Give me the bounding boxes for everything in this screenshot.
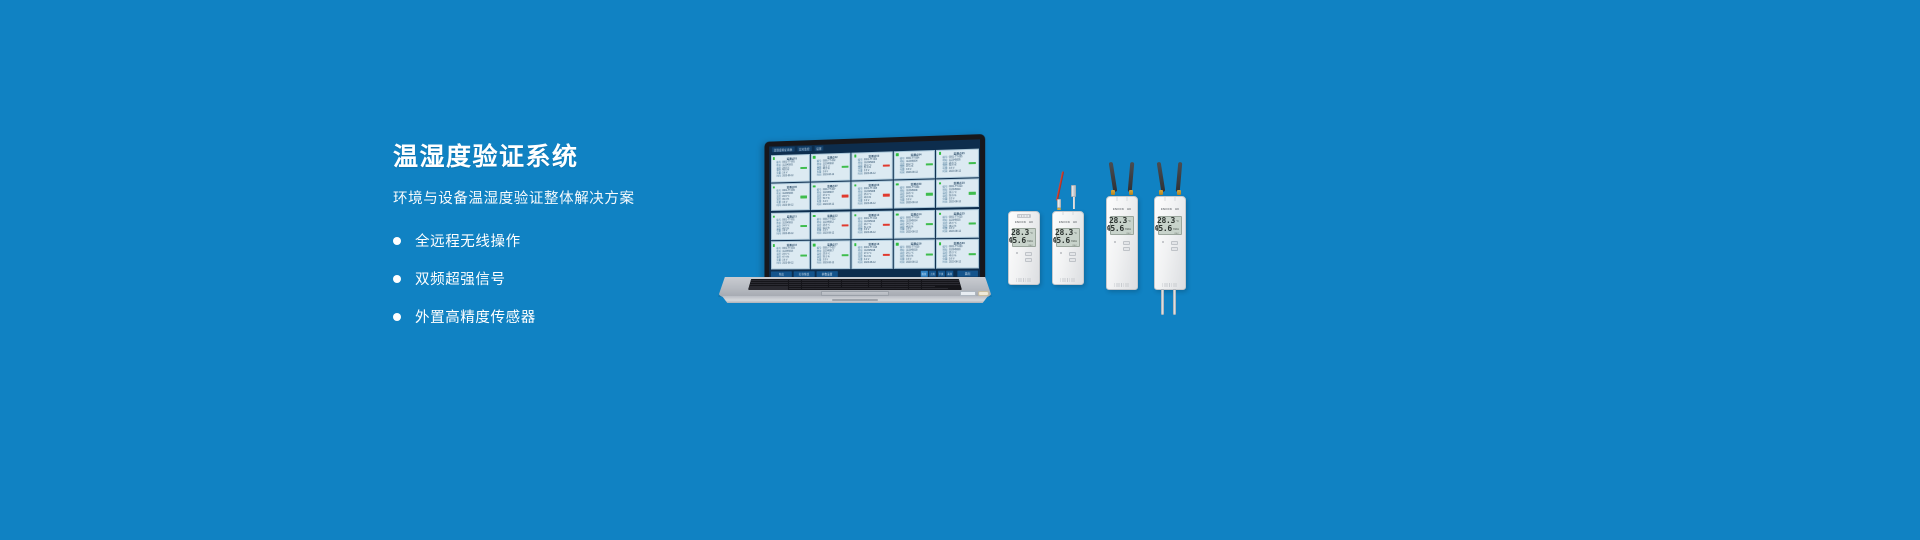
sensor-field-label: 时间: — [854, 173, 863, 176]
sensor-field-value: 2023-08-12 — [823, 174, 848, 178]
status-led-icon — [939, 152, 941, 155]
page-last-button[interactable]: 末页 — [946, 271, 953, 277]
sensor-card-fields: 编号:0001-TT-003地址:112345003温度:26.4 ℃湿度:51… — [854, 158, 890, 176]
probe-connector — [1057, 199, 1061, 208]
sensor-field-value: 2023-08-12 — [782, 233, 807, 236]
device-brand-right: H8 — [1029, 221, 1033, 224]
sensor-field-value: 2023-08-12 — [864, 262, 890, 265]
external-probe-right — [1173, 289, 1176, 315]
device-indicator-led — [1162, 241, 1164, 243]
sensor-card[interactable]: 监测点05编号:0001-TT-005地址:112345005温度:25.6 ℃… — [936, 148, 978, 178]
sensor-card-row: 时间:2023-08-12 — [854, 262, 890, 265]
lcd-status-label: REC — [1015, 245, 1033, 247]
device-button-panel — [1107, 241, 1137, 251]
laptop-open-notch — [832, 299, 878, 301]
sensor-field-value: 2023-08-12 — [864, 202, 890, 205]
device-base-vent-icon — [1016, 278, 1032, 282]
sensor-card-fields: 编号:0001-TT-001地址:112345001温度:24.8 ℃湿度:48… — [773, 161, 807, 179]
laptop-lid: 温湿度验证系统 实时监控 设置 监测点01编号:0001-TT-001地址:11… — [764, 134, 985, 290]
status-led-icon — [939, 182, 941, 184]
sensor-field-value: 2023-08-12 — [906, 232, 932, 235]
sensor-card[interactable]: 监测点18编号:0001-TT-018地址:112345018温度:27.0 ℃… — [852, 240, 893, 269]
sensor-field-label: 时间: — [813, 262, 822, 265]
sensor-card-title: 监测点06 — [777, 185, 808, 190]
sensor-card-row: 时间:2023-08-12 — [896, 261, 932, 264]
sensor-card-fields: 编号:0001-TT-009地址:112345009温度:24.5 ℃湿度:47… — [896, 187, 932, 205]
sensor-card-row: 时间:2023-08-12 — [896, 202, 932, 206]
status-led-icon — [813, 215, 815, 217]
device-lcd-display: 28.3 ℃ 45.6 %RH REC — [1056, 228, 1080, 247]
sensor-card-row: 时间:2023-08-12 — [813, 262, 848, 265]
list-item: 双频超强信号 — [393, 268, 723, 289]
toolbar-item-title[interactable]: 温湿度验证系统 — [772, 147, 794, 153]
sensor-card-row: 时间:2023-08-12 — [939, 170, 976, 174]
antenna-left-base — [1159, 190, 1164, 195]
device-housing: ENCON H8 28.3 ℃ 45.6 %RH REC — [1052, 211, 1084, 285]
toolbar-item-settings[interactable]: 设置 — [814, 146, 823, 151]
status-led-icon — [854, 184, 856, 186]
list-item: 全远程无线操作 — [393, 230, 723, 251]
sensor-card-row: 时间:2023-08-12 — [773, 175, 807, 179]
sensor-card[interactable]: 监测点14编号:0001-TT-014地址:112345014温度:24.3 ℃… — [894, 209, 935, 238]
probe-gold-ring — [1057, 208, 1061, 210]
sensor-card-title: 监测点10 — [943, 181, 976, 186]
sensor-card-title: 监测点19 — [900, 242, 933, 246]
device-button-down[interactable] — [1025, 258, 1032, 262]
sensor-field-label: 时间: — [773, 176, 781, 179]
sensor-card-fields: 编号:0001-TT-014地址:112345014温度:24.3 ℃湿度:46… — [896, 217, 932, 235]
device-housing: ENCON H8 28.3 ℃ 45.6 %RH REC — [1154, 196, 1186, 290]
sensor-field-label: 时间: — [854, 203, 863, 206]
sensor-card-header: 监测点18 — [854, 242, 890, 246]
device-brand-left: ENCON — [1161, 208, 1172, 211]
sensor-card-fields: 编号:0001-TT-015地址:112345015温度:25.4 ℃湿度:48… — [939, 216, 976, 234]
sensor-card-fields: 编号:0001-TT-013地址:112345013温度:26.7 ℃湿度:51… — [854, 217, 890, 235]
sensor-field-label: 时间: — [773, 234, 781, 237]
sensor-field-label: 时间: — [813, 175, 822, 178]
keyboard-row — [749, 288, 961, 289]
sensor-card[interactable]: 监测点10编号:0001-TT-010地址:112345010温度:26.1 ℃… — [936, 178, 978, 208]
laptop-front-edge — [722, 296, 988, 303]
sensor-field-value: 2023-08-12 — [782, 204, 807, 207]
sensor-card-fields: 编号:0001-TT-008地址:112345008温度:25.0 ℃湿度:48… — [854, 188, 890, 206]
laptop-trackpad[interactable] — [821, 291, 889, 297]
sensor-field-value: 2023-08-12 — [949, 201, 976, 205]
sensor-card-header: 监测点19 — [896, 242, 932, 246]
sensor-card-grid: 监测点01编号:0001-TT-001地址:112345001温度:24.8 ℃… — [769, 146, 980, 270]
device-indicator-led — [1016, 252, 1018, 254]
sensor-card-title: 监测点18 — [858, 242, 890, 246]
device-wireless-validator-b: ENCON H8 28.3 ℃ 45.6 %RH REC — [1154, 196, 1186, 290]
device-button-panel — [1155, 241, 1185, 251]
device-housing: ENCON H8 28.3 ℃ 45.6 %RH REC — [1106, 196, 1138, 290]
sensor-field-value: 2023-08-12 — [949, 170, 976, 174]
sensor-card-fields: 编号:0001-TT-020地址:112345020温度:25.3 ℃湿度:49… — [939, 246, 976, 264]
lcd-humidity-value: 45.6 — [1008, 237, 1026, 245]
sensor-card-title: 监测点11 — [777, 214, 808, 218]
sensor-field-value: 2023-08-12 — [906, 172, 932, 176]
status-led-icon — [854, 155, 856, 157]
sensor-field-value: 2023-08-12 — [782, 175, 807, 179]
sensor-card[interactable]: 监测点20编号:0001-TT-020地址:112345020温度:25.3 ℃… — [936, 239, 978, 268]
status-led-icon — [939, 212, 941, 214]
sensor-field-value: 2023-08-12 — [949, 231, 976, 234]
device-brand-right: H8 — [1073, 221, 1077, 224]
sensor-field-label: 时间: — [854, 262, 863, 265]
sensor-field-label: 时间: — [813, 204, 822, 207]
device-lcd-display: 28.3 ℃ 45.6 %RH REC — [1012, 228, 1036, 247]
sensor-card[interactable]: 监测点08编号:0001-TT-008地址:112345008温度:25.0 ℃… — [852, 181, 893, 210]
sensor-card-row: 时间:2023-08-12 — [813, 233, 848, 236]
sensor-card-fields: 编号:0001-TT-011地址:112345011温度:24.9 ℃湿度:49… — [773, 219, 807, 237]
device-brand-left: ENCON — [1015, 221, 1026, 224]
sensor-card[interactable]: 监测点07编号:0001-TT-007地址:112345007温度:27.2 ℃… — [811, 182, 851, 211]
sensor-field-value: 2023-08-12 — [823, 233, 848, 236]
sensor-field-label: 时间: — [939, 171, 948, 174]
status-led-icon — [773, 186, 775, 188]
device-indicator-led — [1060, 252, 1062, 254]
device-brand-right: H8 — [1127, 208, 1131, 211]
device-button-up[interactable] — [1171, 241, 1178, 245]
sensor-card-fields: 编号:0001-TT-007地址:112345007温度:27.2 ℃湿度:53… — [813, 189, 848, 207]
laptop-deck — [718, 277, 992, 297]
sensor-card-row: 时间:2023-08-12 — [813, 203, 848, 207]
lcd-humidity-value: 45.6 — [1052, 237, 1070, 245]
sensor-field-value: 2023-08-12 — [864, 232, 890, 235]
status-led-icon — [813, 185, 815, 187]
laptop-sticker-secondary — [978, 291, 989, 296]
sensor-card-header: 监测点12 — [813, 213, 848, 218]
sensor-field-label: 时间: — [939, 261, 948, 264]
sensor-card-row: 时间:2023-08-12 — [939, 201, 976, 205]
sensor-field-label: 时间: — [896, 202, 905, 205]
page-subtitle: 环境与设备温湿度验证整体解决方案 — [393, 187, 723, 208]
page-next-button[interactable]: 下页 — [937, 271, 944, 277]
sensor-card-title: 监测点13 — [858, 212, 890, 217]
sensor-card-row: 时间:2023-08-12 — [773, 233, 807, 236]
sensor-field-label: 时间: — [854, 232, 863, 235]
lcd-status-label: REC — [1113, 233, 1131, 235]
sensor-card[interactable]: 监测点12编号:0001-TT-012地址:112345012温度:25.8 ℃… — [811, 211, 851, 240]
antenna-right — [1128, 162, 1134, 192]
device-external-probe-logger: ENCON H8 28.3 ℃ 45.6 %RH REC — [1052, 211, 1084, 285]
sensor-field-value: 2023-08-12 — [949, 261, 976, 264]
sensor-card[interactable]: 监测点11编号:0001-TT-011地址:112345011温度:24.9 ℃… — [771, 212, 810, 240]
laptop-product-image: 温湿度验证系统 实时监控 设置 监测点01编号:0001-TT-001地址:11… — [714, 138, 996, 303]
device-base-vent-icon — [1162, 283, 1178, 287]
sensor-card-fields: 编号:0001-TT-002地址:112345002温度:25.1 ℃湿度:49… — [813, 159, 848, 177]
sensor-field-value: 2023-08-12 — [823, 262, 848, 265]
antenna-right — [1176, 162, 1182, 192]
sensor-card-fields: 编号:0001-TT-017地址:112345017温度:25.9 ℃湿度:50… — [813, 248, 848, 266]
sensor-card-header: 监测点09 — [896, 182, 932, 187]
sensor-card-header: 监测点16 — [773, 243, 807, 247]
sensor-field-value: 2023-08-12 — [864, 173, 890, 177]
device-button-up[interactable] — [1123, 241, 1130, 245]
bullet-dot-icon — [393, 237, 401, 245]
sensor-field-value: 2023-08-12 — [823, 203, 848, 206]
status-led-icon — [939, 242, 941, 244]
probe-sensor-tip — [1071, 185, 1076, 197]
page-first-button[interactable]: 首页 — [920, 271, 927, 277]
status-led-icon — [854, 214, 856, 216]
device-brand-left: ENCON — [1113, 208, 1124, 211]
sensor-card-fields: 编号:0001-TT-018地址:112345018温度:27.0 ℃湿度:54… — [854, 247, 890, 265]
sensor-card-title: 监测点09 — [900, 182, 933, 187]
device-brand-left: ENCON — [1059, 221, 1070, 224]
probe-stem — [1073, 197, 1075, 209]
device-hanging-loop-icon — [1165, 196, 1176, 201]
device-button-down[interactable] — [1171, 247, 1178, 251]
sensor-card[interactable]: 监测点19编号:0001-TT-019地址:112345019温度:24.1 ℃… — [894, 239, 935, 268]
sensor-devices-group: ENCON H8 28.3 ℃ 45.6 %RH REC — [1002, 178, 1222, 318]
sensor-card-row: 时间:2023-08-12 — [896, 172, 932, 176]
device-brand-right: H8 — [1175, 208, 1179, 211]
sensor-card[interactable]: 监测点06编号:0001-TT-006地址:112345006温度:23.9 ℃… — [771, 183, 810, 212]
status-led-icon — [896, 243, 898, 245]
sensor-card-row: 时间:2023-08-12 — [939, 261, 976, 264]
feature-label: 全远程无线操作 — [415, 230, 521, 251]
sensor-field-label: 时间: — [896, 262, 905, 265]
status-led-icon — [773, 215, 775, 217]
sensor-card[interactable]: 监测点17编号:0001-TT-017地址:112345017温度:25.9 ℃… — [811, 240, 851, 268]
device-base-vent-icon — [1060, 278, 1076, 282]
sensor-card-row: 时间:2023-08-12 — [813, 174, 848, 178]
sensor-card-header: 监测点13 — [854, 212, 890, 217]
device-wireless-validator-a: ENCON H8 28.3 ℃ 45.6 %RH REC — [1106, 196, 1138, 290]
device-button-panel — [1009, 252, 1039, 262]
sensor-card-title: 监测点15 — [943, 211, 976, 216]
lcd-humidity-value: 45.6 — [1154, 225, 1172, 233]
bullet-dot-icon — [393, 275, 401, 283]
sensor-card-row: 时间:2023-08-12 — [773, 262, 807, 265]
antenna-left-base — [1111, 190, 1116, 195]
sensor-card-row: 时间:2023-08-12 — [939, 231, 976, 234]
page-prev-button[interactable]: 上页 — [929, 271, 936, 277]
status-led-icon — [896, 183, 898, 185]
sensor-card[interactable]: 监测点04编号:0001-TT-004地址:112345004温度:24.2 ℃… — [894, 149, 935, 179]
device-housing: ENCON H8 28.3 ℃ 45.6 %RH REC — [1008, 211, 1040, 285]
device-hanging-loop-icon — [1117, 196, 1128, 201]
status-led-icon — [854, 243, 856, 245]
toolbar-item-monitor[interactable]: 实时监控 — [797, 146, 811, 151]
sensor-card-fields: 编号:0001-TT-004地址:112345004温度:24.2 ℃湿度:47… — [896, 157, 932, 176]
sensor-field-label: 时间: — [896, 232, 905, 235]
device-base-vent-icon — [1114, 283, 1130, 287]
exit-button[interactable]: 退出 — [957, 271, 978, 277]
status-led-icon — [813, 244, 815, 246]
sensor-field-label: 时间: — [896, 172, 905, 175]
sensor-card-row: 时间:2023-08-12 — [854, 202, 890, 206]
antenna-left — [1109, 162, 1117, 192]
sensor-field-label: 时间: — [939, 231, 948, 234]
sensor-card-row: 时间:2023-08-12 — [896, 232, 932, 235]
status-led-icon — [896, 154, 898, 156]
sensor-card-header: 监测点11 — [773, 214, 807, 219]
sensor-card-fields: 编号:0001-TT-019地址:112345019温度:24.1 ℃湿度:45… — [896, 247, 932, 265]
sensor-card[interactable]: 监测点02编号:0001-TT-002地址:112345002温度:25.1 ℃… — [811, 152, 851, 181]
sensor-vent-icon — [1017, 214, 1031, 218]
sensor-card-row: 时间:2023-08-12 — [854, 173, 890, 177]
sensor-card-fields: 编号:0001-TT-010地址:112345010温度:26.1 ℃湿度:50… — [939, 186, 976, 205]
feature-label: 双频超强信号 — [415, 268, 506, 289]
device-lcd-display: 28.3 ℃ 45.6 %RH REC — [1158, 216, 1182, 235]
sensor-field-value: 2023-08-12 — [782, 262, 807, 265]
device-button-down[interactable] — [1123, 247, 1130, 251]
feature-label: 外置高精度传感器 — [415, 306, 536, 327]
banner-copy: 温湿度验证系统 环境与设备温湿度验证整体解决方案 全远程无线操作 双频超强信号 … — [393, 142, 723, 344]
status-led-icon — [813, 156, 815, 158]
sensor-card-fields: 编号:0001-TT-012地址:112345012温度:25.8 ℃湿度:52… — [813, 218, 848, 236]
page-title: 温湿度验证系统 — [393, 142, 723, 172]
lcd-humidity-value: 45.6 — [1106, 225, 1124, 233]
feature-list: 全远程无线操作 双频超强信号 外置高精度传感器 — [393, 230, 723, 327]
sensor-field-label: 时间: — [813, 233, 822, 236]
device-lcd-display: 28.3 ℃ 45.6 %RH REC — [1110, 216, 1134, 235]
sensor-card-row: 时间:2023-08-12 — [773, 204, 807, 208]
sensor-card-title: 监测点08 — [858, 183, 890, 188]
sensor-card-title: 监测点16 — [777, 243, 808, 247]
device-indicator-led — [1114, 241, 1116, 243]
sensor-card[interactable]: 监测点13编号:0001-TT-013地址:112345013温度:26.7 ℃… — [852, 210, 893, 239]
sensor-card[interactable]: 监测点09编号:0001-TT-009地址:112345009温度:24.5 ℃… — [894, 179, 935, 209]
device-basic-logger: ENCON H8 28.3 ℃ 45.6 %RH REC — [1008, 211, 1040, 285]
sensor-card-header: 监测点20 — [939, 241, 976, 245]
lcd-status-label: REC — [1059, 245, 1077, 247]
sensor-card-title: 监测点17 — [817, 243, 848, 247]
product-banner: 温湿度验证系统 环境与设备温湿度验证整体解决方案 全远程无线操作 双频超强信号 … — [0, 0, 1920, 540]
sensor-card-title: 监测点14 — [900, 212, 933, 217]
sensor-card[interactable]: 监测点15编号:0001-TT-015地址:112345015温度:25.4 ℃… — [936, 209, 978, 239]
device-button-up[interactable] — [1069, 252, 1076, 256]
sensor-card-title: 监测点07 — [817, 184, 848, 189]
sensor-card[interactable]: 监测点01编号:0001-TT-001地址:112345001温度:24.8 ℃… — [771, 154, 810, 183]
sensor-card-fields: 编号:0001-TT-006地址:112345006温度:23.9 ℃湿度:46… — [773, 190, 807, 208]
sensor-card-row: 时间:2023-08-12 — [854, 232, 890, 235]
device-hanging-loop-icon — [1063, 211, 1074, 215]
bullet-dot-icon — [393, 313, 401, 321]
laptop-screen: 温湿度验证系统 实时监控 设置 监测点01编号:0001-TT-001地址:11… — [769, 139, 980, 278]
sensor-field-value: 2023-08-12 — [906, 202, 932, 205]
sensor-card-title: 监测点12 — [817, 213, 848, 218]
sensor-card-header: 监测点14 — [896, 212, 932, 217]
status-led-icon — [896, 213, 898, 215]
laptop-base — [714, 277, 996, 303]
device-button-panel — [1053, 252, 1083, 262]
antenna-right-base — [1129, 190, 1134, 195]
sensor-card[interactable]: 监测点16编号:0001-TT-016地址:112345016温度:24.6 ℃… — [771, 241, 810, 269]
device-button-up[interactable] — [1025, 252, 1032, 256]
sensor-field-label: 时间: — [773, 205, 781, 208]
device-button-down[interactable] — [1069, 258, 1076, 262]
status-led-icon — [773, 158, 775, 160]
probe-cable — [1056, 171, 1064, 201]
sensor-field-label: 时间: — [939, 201, 948, 204]
antenna-left — [1157, 162, 1165, 192]
sensor-card-fields: 编号:0001-TT-005地址:112345005温度:25.6 ℃湿度:50… — [939, 156, 976, 175]
antenna-right-base — [1177, 190, 1182, 195]
sensor-field-value: 2023-08-12 — [906, 261, 932, 264]
sensor-card-header: 监测点17 — [813, 243, 848, 247]
sensor-card-title: 监测点20 — [943, 241, 976, 245]
status-led-icon — [773, 244, 775, 246]
laptop-keyboard[interactable] — [748, 279, 962, 290]
sensor-card-fields: 编号:0001-TT-016地址:112345016温度:24.6 ℃湿度:47… — [773, 248, 807, 265]
external-probe-left — [1161, 289, 1164, 315]
lcd-status-label: REC — [1161, 233, 1179, 235]
sensor-field-label: 时间: — [773, 262, 781, 265]
pagination: 首页 上页 下页 末页 — [920, 271, 953, 277]
laptop-sticker-intel — [960, 291, 976, 296]
sensor-card-header: 监测点15 — [939, 211, 976, 216]
list-item: 外置高精度传感器 — [393, 306, 723, 327]
sensor-card[interactable]: 监测点03编号:0001-TT-003地址:112345003温度:26.4 ℃… — [852, 151, 893, 181]
